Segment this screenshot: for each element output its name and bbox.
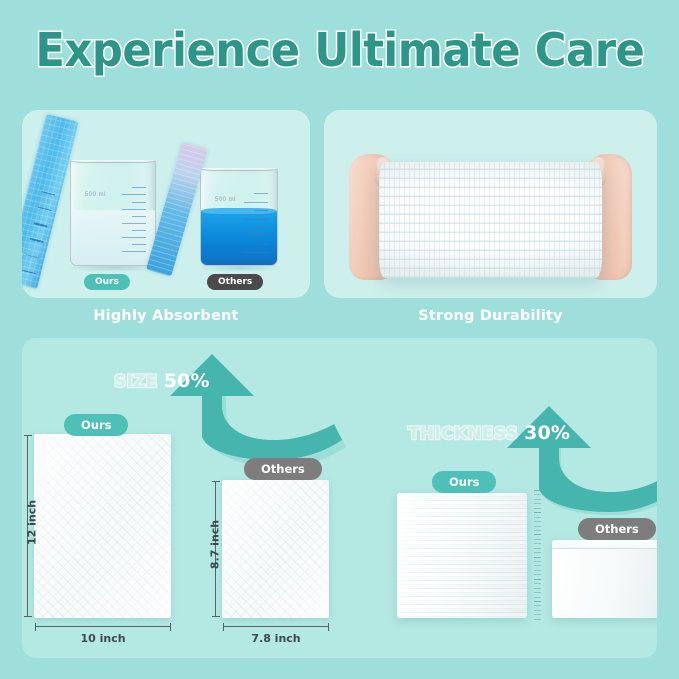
badge-ours-size: Ours	[64, 414, 128, 436]
badge-others-size: Others	[244, 458, 322, 480]
beaker-others-graduations	[244, 193, 268, 253]
durability-scene	[324, 110, 657, 298]
thickness-metric-percent: 30%	[524, 422, 570, 444]
caption-highly-absorbent: Highly Absorbent	[22, 308, 310, 324]
beaker-others: 500 ml	[200, 168, 278, 266]
dim-ours-height: 12 inch	[26, 493, 39, 553]
badge-others-thickness: Others	[578, 518, 656, 540]
comparison-panel: SIZE50% Ours 12 inch 10 inch Others 8.7 …	[22, 338, 657, 658]
thickness-metric-name: THICKNESS	[408, 424, 518, 444]
beaker-ours-graduations	[122, 187, 146, 252]
badge-others-absorbency: Others	[207, 274, 263, 290]
size-metric-percent: 50%	[164, 370, 210, 392]
wipe-slab-others	[552, 540, 657, 618]
thickness-metric-label: THICKNESS30%	[408, 422, 570, 444]
size-metric-name: SIZE	[114, 372, 158, 392]
dim-line-ours-width	[35, 626, 171, 627]
wipe-square-ours	[34, 434, 171, 618]
beaker-ours: 500 ml	[70, 160, 156, 266]
size-metric-label: SIZE50%	[114, 370, 210, 392]
dim-line-others-width	[223, 626, 329, 627]
beaker-comparison-scene: 500 ml 500 ml	[22, 110, 310, 298]
wipe-square-others	[222, 480, 329, 618]
title-container: Experience Ultimate Care	[0, 26, 679, 74]
dim-others-width: 7.8 inch	[218, 632, 334, 645]
page-title: Experience Ultimate Care	[35, 26, 644, 74]
thickness-ruler	[534, 490, 541, 620]
panel-strong-durability	[324, 110, 657, 298]
badge-ours-thickness: Ours	[432, 471, 496, 493]
wipe-stack-ours	[397, 493, 527, 618]
panel-captions-row: Highly Absorbent Strong Durability	[22, 308, 657, 324]
beaker-ours-volume-label: 500 ml	[85, 192, 106, 198]
caption-strong-durability: Strong Durability	[324, 308, 657, 324]
dim-others-height: 8.7 inch	[209, 514, 222, 576]
feature-panels-row: 500 ml 500 ml	[22, 110, 657, 298]
size-arrow-icon	[150, 352, 350, 462]
beaker-others-volume-label: 500 ml	[215, 197, 236, 203]
beaker-ours-rim	[70, 160, 156, 163]
wipe-strip-ours-scale	[22, 191, 55, 274]
badge-ours-absorbency: Ours	[84, 274, 130, 290]
stretched-wipe-sheet	[379, 162, 602, 278]
product-infographic: Experience Ultimate Care 500 ml	[0, 0, 679, 679]
beaker-others-rim	[200, 168, 278, 171]
panel-highly-absorbent: 500 ml 500 ml	[22, 110, 310, 298]
dim-ours-width: 10 inch	[35, 632, 171, 645]
